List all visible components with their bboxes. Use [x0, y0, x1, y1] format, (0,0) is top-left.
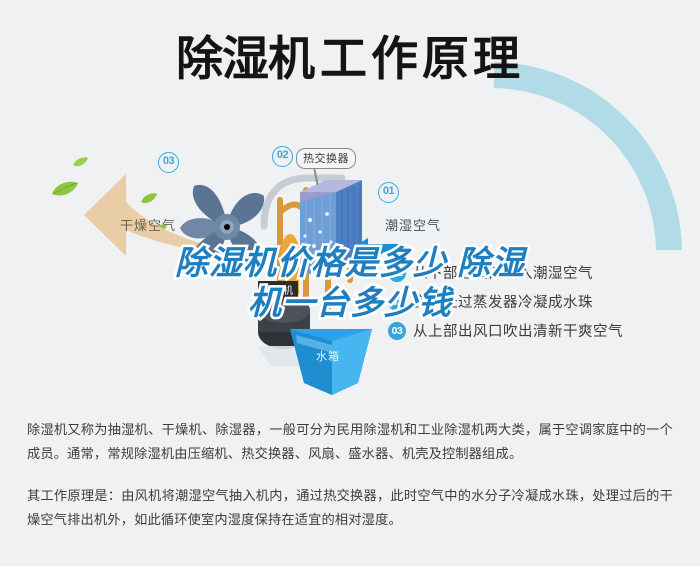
air-inlet-arrow	[350, 238, 402, 260]
step-text-03: 从上部出风口吹出清新干爽空气	[413, 320, 623, 341]
step-badge-01: 01	[388, 264, 406, 282]
step-text-02: 空气经过蒸发器冷凝成水珠	[413, 291, 593, 312]
page-title: 除湿机工作原理	[0, 24, 700, 94]
article-paragraph-2: 其工作原理是：由风机将潮湿空气抽入机内，通过热交换器，此时空气中的水分子冷凝成水…	[27, 484, 673, 532]
article-paragraph-1: 除湿机又称为抽湿机、干燥机、除湿器，一般可分为民用除湿机和工业除湿机两大类，属于…	[27, 418, 673, 466]
heat-exchanger-callout: 热交换器	[296, 148, 356, 169]
heat-exchanger-illustration	[296, 176, 366, 276]
step-badge-03: 03	[388, 322, 406, 340]
title-part-2: 工作原理	[320, 32, 524, 85]
graphic-badge-03: 03	[158, 152, 179, 173]
water-tank-label: 水箱	[316, 348, 340, 364]
graphic-badge-01: 01	[378, 182, 399, 203]
step-item-03: 03 从上部出风口吹出清新干爽空气	[388, 316, 688, 345]
title-part-1: 除湿机	[176, 32, 314, 85]
step-text-01: 从下部进风口吸入潮湿空气	[413, 262, 593, 283]
infographic-image: 除湿机工作原理 干燥空气	[0, 0, 700, 400]
leaf-icon	[50, 180, 80, 203]
graphic-badge-02: 02	[272, 146, 293, 167]
step-item-01: 01 从下部进风口吸入潮湿空气	[388, 258, 688, 287]
humid-air-label: 潮湿空气	[385, 215, 441, 234]
step-badge-02: 02	[388, 293, 406, 311]
steps-list: 01 从下部进风口吸入潮湿空气 02 空气经过蒸发器冷凝成水珠 03 从上部出风…	[388, 258, 688, 345]
compressor-label: 压缩机	[258, 281, 298, 298]
step-item-02: 02 空气经过蒸发器冷凝成水珠	[388, 287, 688, 316]
article-body: 除湿机又称为抽湿机、干燥机、除湿器，一般可分为民用除湿机和工业除湿机两大类，属于…	[0, 400, 700, 550]
